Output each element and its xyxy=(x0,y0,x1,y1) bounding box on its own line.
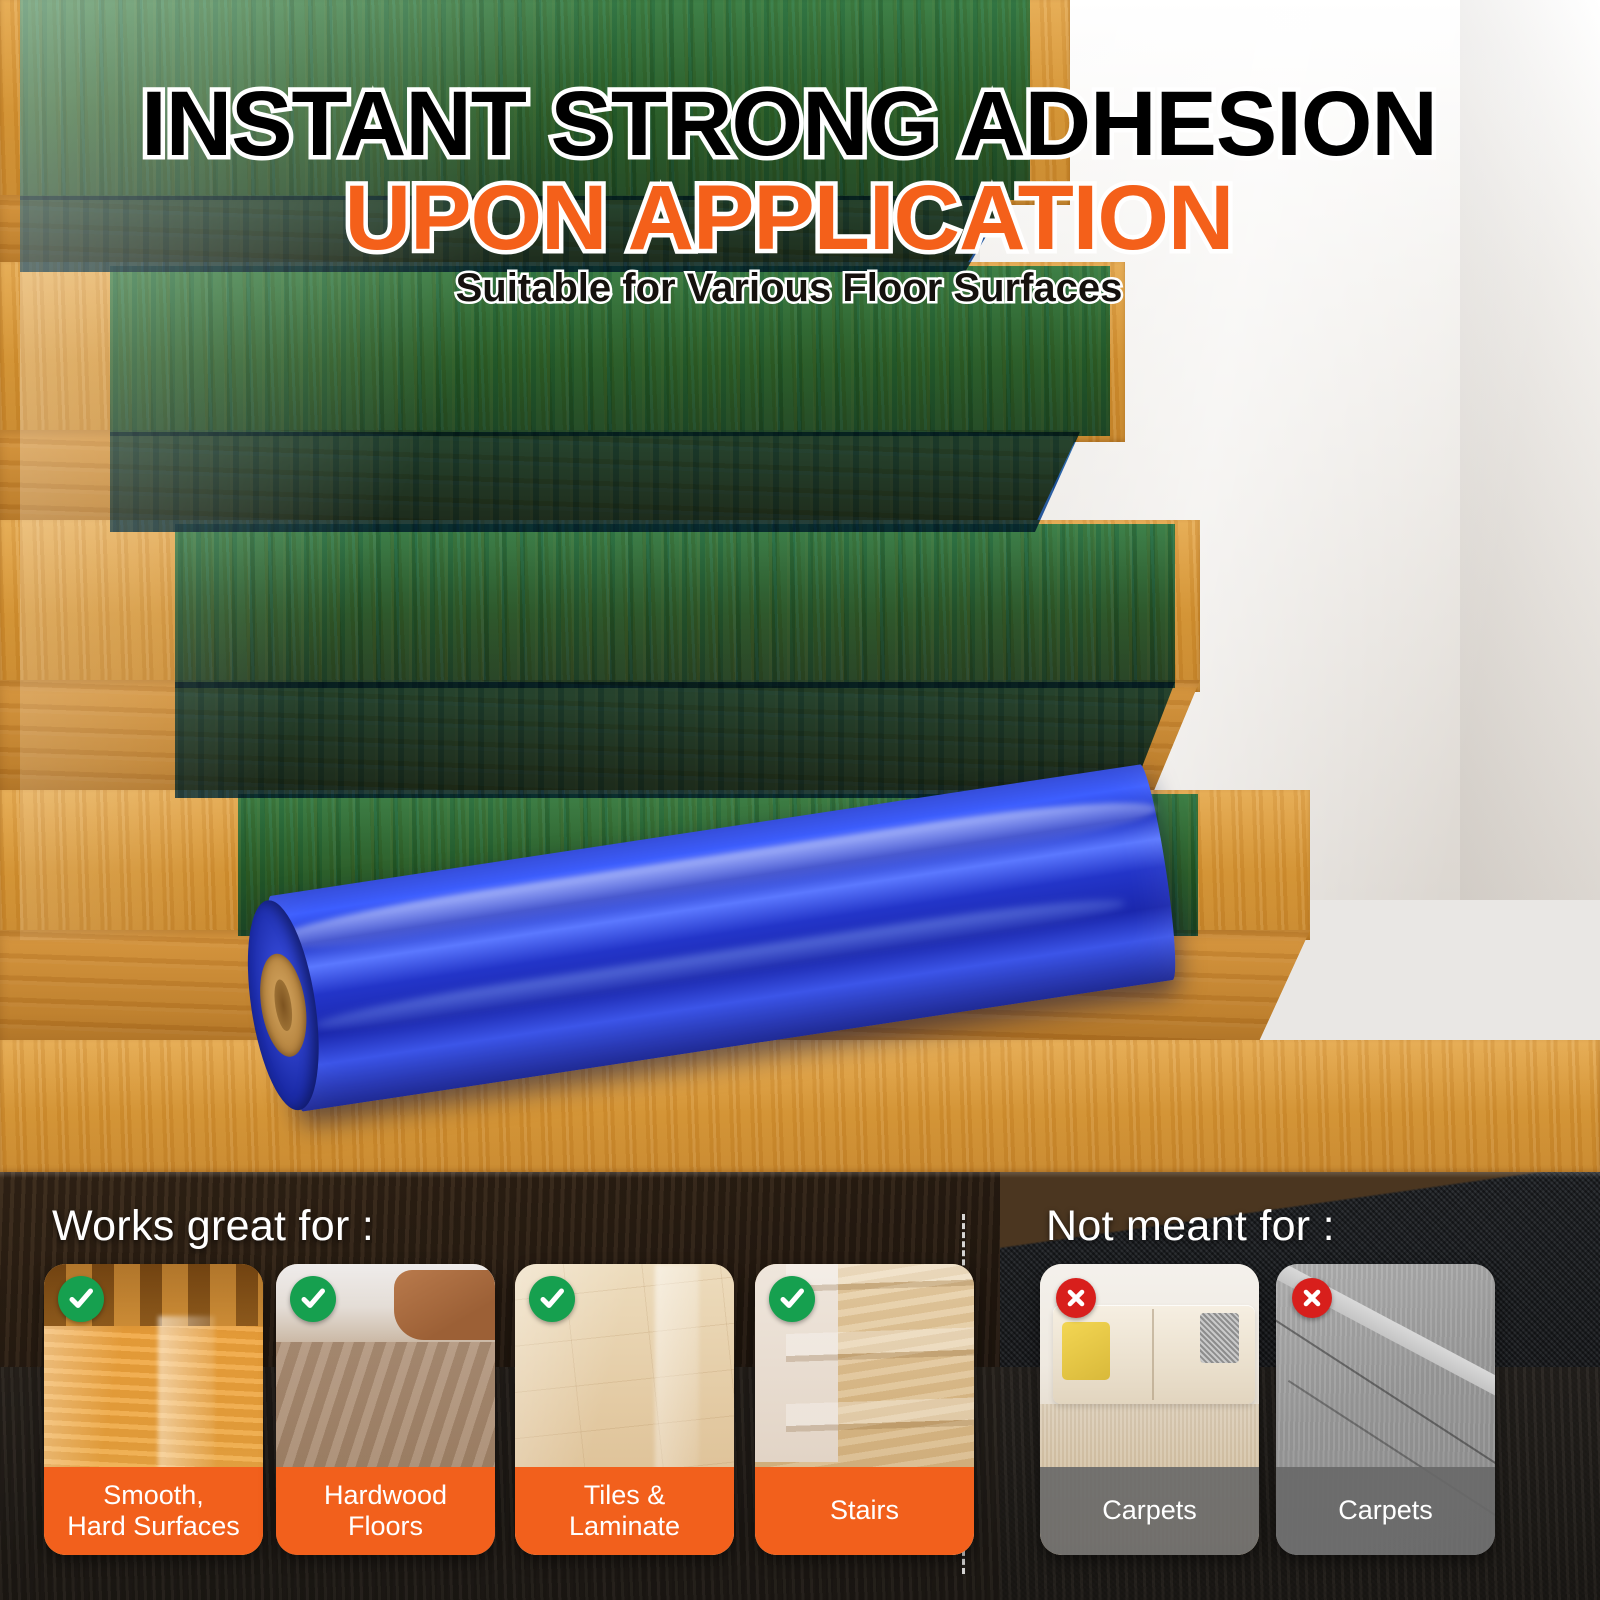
product-marketing-image: INSTANT STRONG ADHESION UPON APPLICATION… xyxy=(0,0,1600,1600)
protective-film-strip-3 xyxy=(175,524,1175,688)
works-great-for-title: Works great for : xyxy=(52,1202,374,1251)
check-icon xyxy=(769,1276,815,1322)
headline-line1: INSTANT STRONG ADHESION xyxy=(141,73,1437,175)
check-icon xyxy=(290,1276,336,1322)
cross-icon xyxy=(1292,1278,1332,1318)
card-caption-text: Carpets xyxy=(1102,1495,1197,1526)
card-caption-text: Hardwood Floors xyxy=(324,1480,447,1543)
card-caption: Hardwood Floors xyxy=(276,1467,495,1555)
good-card-stairs[interactable]: Stairs xyxy=(755,1264,974,1555)
bad-card-carpets-2[interactable]: Carpets xyxy=(1276,1264,1495,1555)
headline-block: INSTANT STRONG ADHESION UPON APPLICATION… xyxy=(0,78,1600,311)
not-meant-for-title: Not meant for : xyxy=(1046,1202,1335,1251)
card-caption-text: Tiles & Laminate xyxy=(569,1480,680,1543)
card-caption: Smooth, Hard Surfaces xyxy=(44,1467,263,1555)
protective-film-riser-2 xyxy=(110,432,1080,532)
bad-card-carpets-1[interactable]: Carpets xyxy=(1040,1264,1259,1555)
card-caption-text: Stairs xyxy=(830,1495,899,1526)
yellow-pillow xyxy=(1062,1322,1110,1380)
gray-pillow xyxy=(1200,1313,1239,1362)
card-caption-text: Smooth, Hard Surfaces xyxy=(67,1480,240,1543)
panel-top-bevel xyxy=(0,1172,1600,1178)
card-caption: Tiles & Laminate xyxy=(515,1467,734,1555)
card-caption: Carpets xyxy=(1276,1467,1495,1555)
headline-line2: UPON APPLICATION xyxy=(345,167,1234,269)
card-caption: Carpets xyxy=(1040,1467,1259,1555)
good-card-smooth-hard-surfaces[interactable]: Smooth, Hard Surfaces xyxy=(44,1264,263,1555)
card-caption-text: Carpets xyxy=(1338,1495,1433,1526)
subheadline: Suitable for Various Floor Surfaces xyxy=(456,266,1123,310)
cross-icon xyxy=(1056,1278,1096,1318)
hero-photo: INSTANT STRONG ADHESION UPON APPLICATION… xyxy=(0,0,1600,1172)
check-icon xyxy=(58,1276,104,1322)
card-caption: Stairs xyxy=(755,1467,974,1555)
good-card-tiles-laminate[interactable]: Tiles & Laminate xyxy=(515,1264,734,1555)
good-card-hardwood-floors[interactable]: Hardwood Floors xyxy=(276,1264,495,1555)
stair-landing xyxy=(0,1040,1600,1172)
protective-film-riser-3 xyxy=(175,682,1175,798)
check-icon xyxy=(529,1276,575,1322)
